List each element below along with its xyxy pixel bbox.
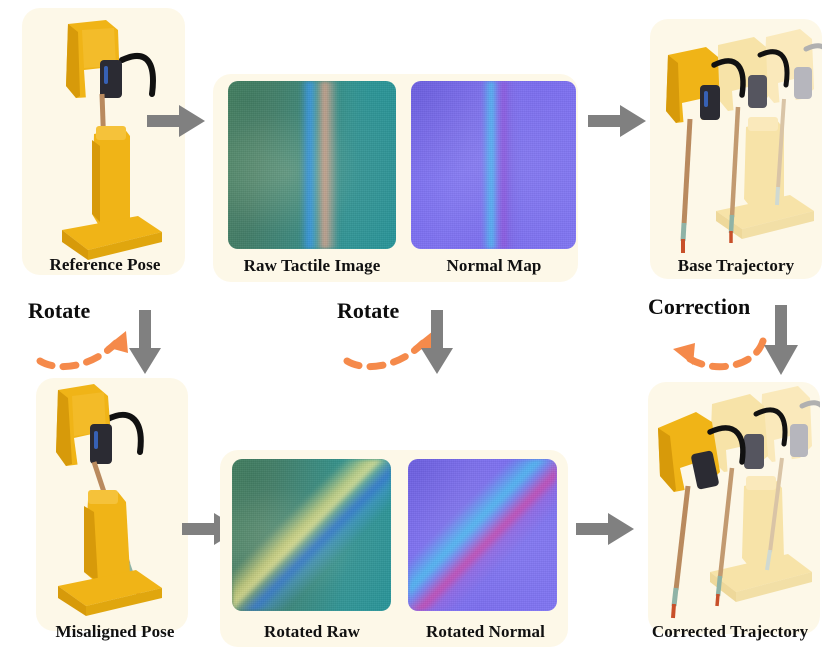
caption-corrected-trajectory: Corrected Trajectory xyxy=(622,622,832,642)
arrow-right-top-left xyxy=(147,104,207,138)
step-label-rotate-middle: Rotate xyxy=(337,298,399,324)
rotated-normal-noise-layer xyxy=(408,459,557,611)
tile-rotated-normal xyxy=(408,459,557,611)
tile-raw-tactile-image xyxy=(228,81,396,249)
arrow-right-bottom-right xyxy=(576,512,636,546)
arrow-right-top-right xyxy=(588,104,648,138)
tile-rotated-raw xyxy=(232,459,391,611)
step-label-correction: Correction xyxy=(648,294,750,320)
step-label-rotate-left: Rotate xyxy=(28,298,90,324)
rotated-raw-noise-layer xyxy=(232,459,391,611)
caption-rotated-normal: Rotated Normal xyxy=(398,622,573,642)
rotate-clockwise-arc-left xyxy=(34,327,138,371)
caption-base-trajectory: Base Trajectory xyxy=(645,256,827,276)
rotate-counterclockwise-arc-right xyxy=(663,327,773,371)
arrow-down-left xyxy=(128,310,162,376)
caption-raw-tactile-image: Raw Tactile Image xyxy=(217,256,407,276)
caption-normal-map: Normal Map xyxy=(404,256,584,276)
photo-misaligned-pose xyxy=(36,378,188,628)
arrow-down-right xyxy=(763,305,799,377)
photo-corrected-trajectory xyxy=(648,382,820,630)
raw-noise-layer xyxy=(228,81,396,249)
caption-rotated-raw: Rotated Raw xyxy=(222,622,402,642)
tile-normal-map xyxy=(411,81,576,249)
photo-reference-pose xyxy=(22,8,185,270)
normal-noise-layer xyxy=(411,81,576,249)
caption-misaligned-pose: Misaligned Pose xyxy=(10,622,220,642)
caption-reference-pose: Reference Pose xyxy=(10,255,200,275)
arrow-down-middle xyxy=(420,310,454,376)
photo-base-trajectory xyxy=(650,19,822,275)
figure-root: Reference Pose Raw Tactile Image Normal … xyxy=(0,0,832,670)
